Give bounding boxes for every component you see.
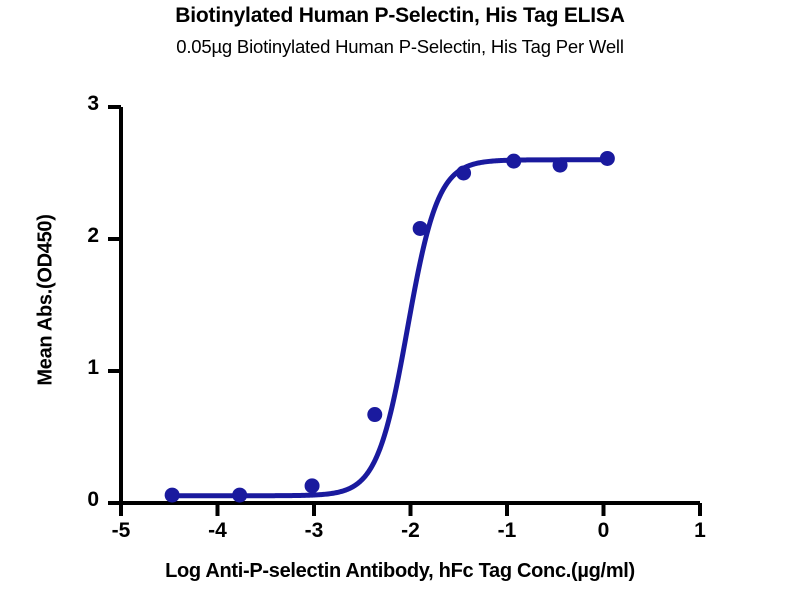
- data-point: [165, 488, 180, 503]
- y-tick-1: 1: [69, 356, 99, 380]
- data-point: [553, 158, 568, 173]
- y-tick-3: 3: [69, 92, 99, 116]
- x-tick--2: -2: [391, 519, 431, 543]
- data-point: [232, 488, 247, 503]
- data-point: [456, 166, 471, 181]
- x-tick--3: -3: [294, 519, 334, 543]
- plot-area: [0, 0, 800, 600]
- data-point: [413, 221, 428, 236]
- x-tick-1: 1: [680, 519, 720, 543]
- fit-curve: [172, 160, 607, 496]
- axes: [108, 107, 700, 516]
- data-points: [165, 151, 615, 503]
- x-tick--4: -4: [198, 519, 238, 543]
- y-tick-2: 2: [69, 224, 99, 248]
- data-point: [305, 478, 320, 493]
- data-point: [506, 154, 521, 169]
- data-point: [600, 151, 615, 166]
- x-tick--5: -5: [101, 519, 141, 543]
- data-point: [367, 407, 382, 422]
- y-tick-0: 0: [69, 488, 99, 512]
- x-tick-0: 0: [584, 519, 624, 543]
- x-tick--1: -1: [487, 519, 527, 543]
- x-axis-label: Log Anti-P-selectin Antibody, hFc Tag Co…: [0, 560, 800, 583]
- elisa-chart: Biotinylated Human P-Selectin, His Tag E…: [0, 0, 800, 600]
